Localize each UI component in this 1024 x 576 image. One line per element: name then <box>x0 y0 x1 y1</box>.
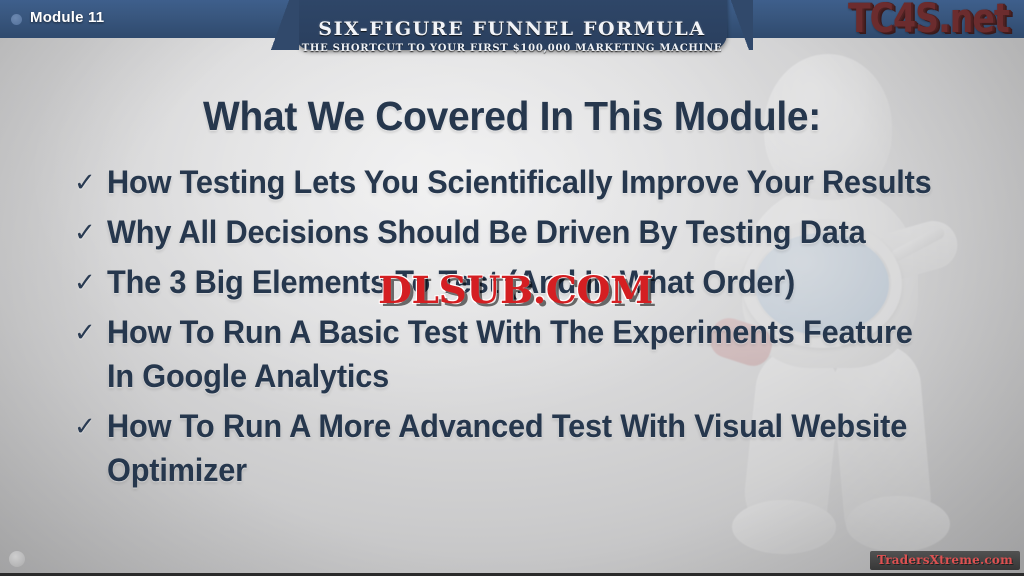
bullet-list: ✓ How Testing Lets You Scientifically Im… <box>74 160 974 498</box>
check-icon: ✓ <box>74 404 96 448</box>
check-icon: ✓ <box>74 260 96 304</box>
list-item-label: How Testing Lets You Scientifically Impr… <box>107 160 932 204</box>
list-item-label: How To Run A Basic Test With The Experim… <box>107 310 940 398</box>
list-item-label: Why All Decisions Should Be Driven By Te… <box>107 210 866 254</box>
center-watermark-dlsub: DLSUB.COM <box>378 268 653 312</box>
check-icon: ✓ <box>74 310 96 354</box>
list-item-label: How To Run A More Advanced Test With Vis… <box>107 404 940 492</box>
bottom-right-watermark-tradersxtreme: TradersXtreme.com <box>870 551 1020 570</box>
list-item: ✓ How To Run A Basic Test With The Exper… <box>74 310 974 398</box>
slide-root: Module 11 SIX-FIGURE FUNNEL FORMULA THE … <box>0 0 1024 576</box>
list-item: ✓ How Testing Lets You Scientifically Im… <box>74 160 974 204</box>
check-icon: ✓ <box>74 210 96 254</box>
course-banner-subtitle: THE SHORTCUT TO YOUR FIRST $100,000 MARK… <box>0 43 1024 54</box>
check-icon: ✓ <box>74 160 96 204</box>
bottom-left-dot-icon <box>9 551 25 567</box>
list-item: ✓ Why All Decisions Should Be Driven By … <box>74 210 974 254</box>
list-item: ✓ How To Run A More Advanced Test With V… <box>74 404 974 492</box>
page-title: What We Covered In This Module: <box>26 93 999 140</box>
brand-watermark-tc4s: TC4S.net <box>848 0 1009 42</box>
